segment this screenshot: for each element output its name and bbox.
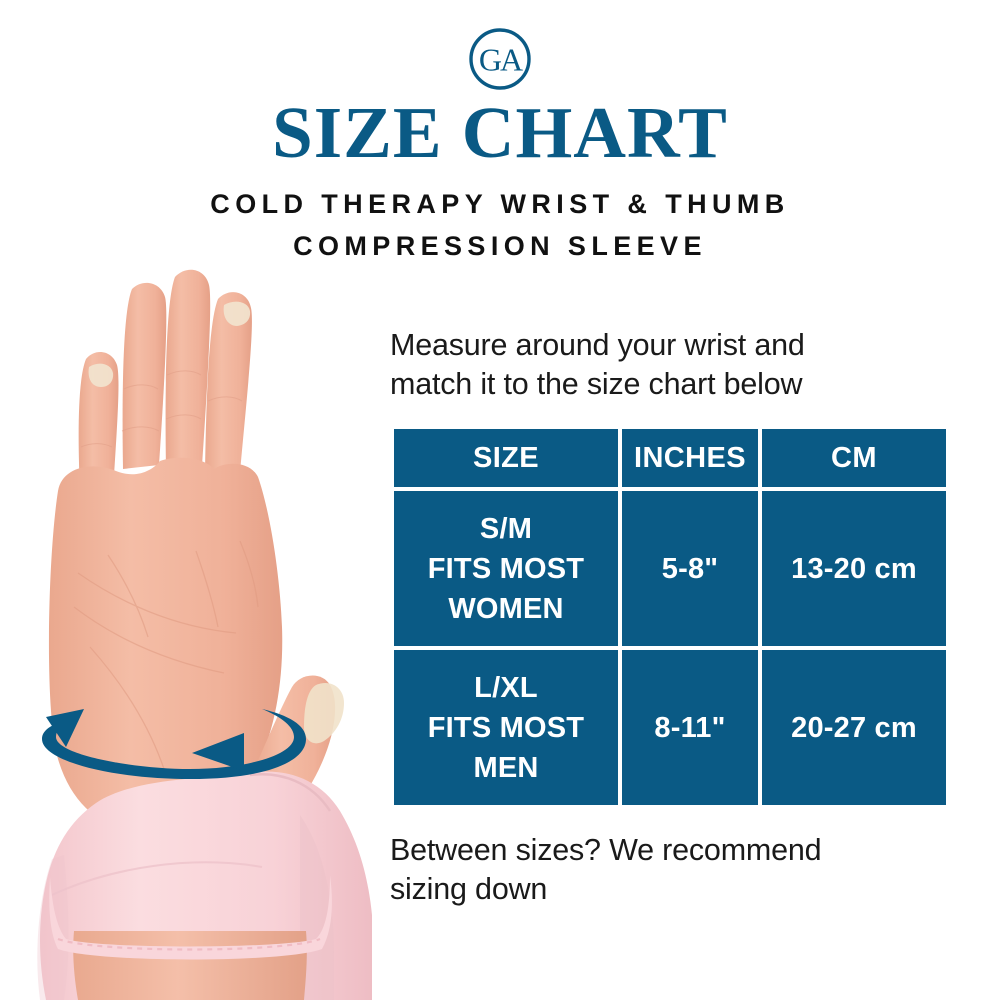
hand-with-sleeve-illustration [0,255,372,1000]
hand-shape [49,270,282,833]
size-label: L/XL [394,668,618,708]
instructions-line-1: Measure around your wrist and [390,326,938,365]
size-note-line2: MEN [394,748,618,788]
product-photo [0,255,372,1000]
cell-size: L/XL FITS MOST MEN [394,650,618,805]
column-header-size: SIZE [394,429,618,487]
cell-inches: 5-8" [622,491,758,646]
cell-size: S/M FITS MOST WOMEN [394,491,618,646]
table-row: S/M FITS MOST WOMEN 5-8" 13-20 cm [394,491,946,646]
size-note-line2: WOMEN [394,589,618,629]
footer-line-1: Between sizes? We recommend [390,831,938,870]
brand-logo: GA [0,22,1000,96]
cell-cm: 20-27 cm [762,650,946,805]
ga-monogram-circle-logo: GA [466,25,534,93]
size-info-column: Measure around your wrist and match it t… [390,326,938,909]
size-note-line1: FITS MOST [394,708,618,748]
measure-instructions: Measure around your wrist and match it t… [390,326,938,404]
svg-text:GA: GA [479,42,523,78]
column-header-inches: INCHES [622,429,758,487]
cell-cm: 13-20 cm [762,491,946,646]
footer-line-2: sizing down [390,870,938,909]
size-chart-table: SIZE INCHES CM S/M FITS MOST WOMEN 5-8" … [390,425,950,809]
column-header-cm: CM [762,429,946,487]
table-header-row: SIZE INCHES CM [394,429,946,487]
size-chart-page: GA SIZE CHART COLD THERAPY WRIST & THUMB… [0,0,1000,1000]
size-note-line1: FITS MOST [394,549,618,589]
size-label: S/M [394,509,618,549]
table-row: L/XL FITS MOST MEN 8-11" 20-27 cm [394,650,946,805]
instructions-line-2: match it to the size chart below [390,365,938,404]
cell-inches: 8-11" [622,650,758,805]
subtitle-line-1: COLD THERAPY WRIST & THUMB [210,189,789,219]
page-title: SIZE CHART [0,94,1000,172]
sizing-recommendation: Between sizes? We recommend sizing down [390,831,938,909]
